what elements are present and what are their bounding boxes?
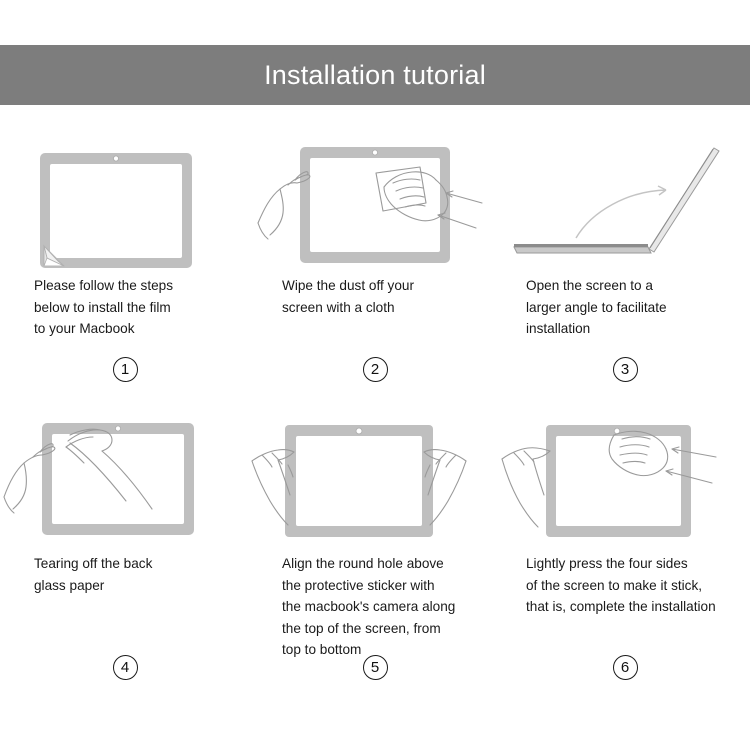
step-5-illustration [250, 403, 500, 553]
page-title: Installation tutorial [264, 62, 486, 89]
step-5-badge-row: 5 [250, 655, 500, 680]
step-item-2: Wipe the dust off your screen with a clo… [250, 125, 500, 403]
step-1-caption: Please follow the steps below to install… [8, 275, 220, 340]
step-2-badge-row: 2 [250, 357, 500, 382]
step-3-badge-row: 3 [500, 357, 750, 382]
step-5-caption: Align the round hole above the protectiv… [258, 553, 470, 661]
step-6-illustration [500, 403, 750, 553]
step-4-badge-row: 4 [0, 655, 250, 680]
step-number-badge: 5 [363, 655, 388, 680]
step-item-3: Open the screen to a larger angle to fac… [500, 125, 750, 403]
step-item-1: Please follow the steps below to install… [0, 125, 250, 403]
step-number-badge: 2 [363, 357, 388, 382]
step-3-caption: Open the screen to a larger angle to fac… [508, 275, 740, 340]
step-2-illustration [250, 125, 500, 275]
step-number-badge: 6 [613, 655, 638, 680]
step-4-caption: Tearing off the back glass paper [8, 553, 220, 596]
steps-grid: Please follow the steps below to install… [0, 125, 750, 735]
step-item-5: Align the round hole above the protectiv… [250, 403, 500, 703]
step-number-badge: 3 [613, 357, 638, 382]
step-1-badge-row: 1 [0, 357, 250, 382]
header-bar: Installation tutorial [0, 45, 750, 105]
step-3-illustration [500, 125, 750, 275]
step-1-illustration [0, 125, 250, 275]
step-6-badge-row: 6 [500, 655, 750, 680]
step-number-badge: 4 [113, 655, 138, 680]
step-item-6: Lightly press the four sides of the scre… [500, 403, 750, 703]
step-6-caption: Lightly press the four sides of the scre… [508, 553, 740, 618]
step-number-badge: 1 [113, 357, 138, 382]
step-2-caption: Wipe the dust off your screen with a clo… [258, 275, 470, 318]
step-item-4: Tearing off the back glass paper 4 [0, 403, 250, 703]
tutorial-page: Installation tutorial Please follow the … [0, 0, 750, 750]
step-4-illustration [0, 403, 250, 553]
